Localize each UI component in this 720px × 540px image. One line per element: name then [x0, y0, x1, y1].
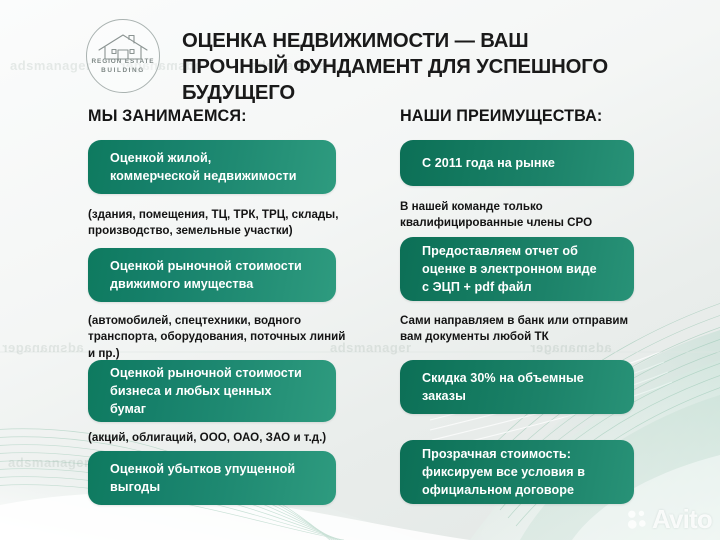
advantage-card-2[interactable]: Предоставляем отчет об оценке в электрон… [400, 237, 634, 301]
service-note-2: (автомобилей, спецтехники, водного транс… [88, 313, 346, 362]
logo-text-line1: REGION ESTATE [86, 59, 160, 65]
service-note-1: (здания, помещения, ТЦ, ТРК, ТРЦ, склады… [88, 207, 356, 240]
avito-watermark: Avito [627, 506, 712, 532]
right-column-heading: НАШИ ПРЕИМУЩЕСТВА: [400, 107, 602, 126]
left-column-heading: МЫ ЗАНИМАЕМСЯ: [88, 107, 247, 126]
avito-dots-icon [627, 509, 648, 530]
advantage-note-2: Сами направляем в банк или отправим вам … [400, 313, 650, 346]
service-card-1[interactable]: Оценкой жилой, коммерческой недвижимости [88, 140, 336, 194]
poster-header: REGION ESTATE BUILDING ОЦЕНКА НЕДВИЖИМОС… [0, 0, 720, 100]
advantage-card-1[interactable]: С 2011 года на рынке [400, 140, 634, 186]
service-note-3: (акций, облигаций, ООО, ОАО, ЗАО и т.д.) [88, 430, 356, 446]
advantage-card-3[interactable]: Скидка 30% на объемные заказы [400, 360, 634, 414]
background-watermark-text: adsmanager [8, 455, 90, 470]
background-watermark-text: adsmanager [2, 340, 84, 355]
service-card-3[interactable]: Оценкой рыночной стоимости бизнеса и люб… [88, 360, 336, 422]
service-card-4[interactable]: Оценкой убытков упущенной выгоды [88, 451, 336, 505]
logo-text-line2: BUILDING [86, 68, 160, 74]
avito-wordmark: Avito [652, 506, 712, 532]
company-logo: REGION ESTATE BUILDING [86, 19, 160, 93]
page-title: ОЦЕНКА НЕДВИЖИМОСТИ — ВАШ ПРОЧНЫЙ ФУНДАМ… [182, 29, 612, 106]
advantage-note-1: В нашей команде только квалифицированные… [400, 199, 638, 232]
poster-canvas: adsmanager adsmanager adsmanager adsmana… [0, 0, 720, 540]
advantage-card-4[interactable]: Прозрачная стоимость: фиксируем все усло… [400, 440, 634, 504]
service-card-2[interactable]: Оценкой рыночной стоимости движимого иму… [88, 248, 336, 302]
